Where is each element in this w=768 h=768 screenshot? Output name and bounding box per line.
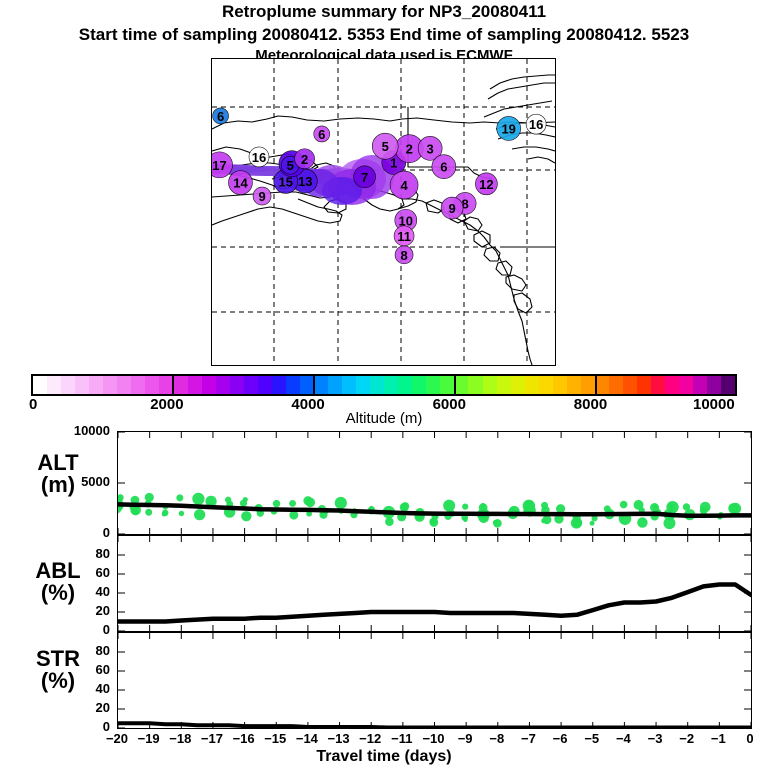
map-marker-8[interactable]: 8 [395,246,413,264]
panel-abl-canvas [118,536,751,631]
colorbar-band-29 [440,376,454,394]
map-marker-7[interactable]: 7 [354,166,376,188]
colorbar-band-46 [679,376,693,394]
colorbar-band-39 [581,376,595,394]
colorbar-band-23 [356,376,370,394]
map-marker-16[interactable]: 16 [526,114,546,134]
colorbar-title: Altitude (m) [0,410,768,427]
svg-text:16: 16 [529,117,543,132]
colorbar-band-3 [75,376,89,394]
colorbar-sep-8000 [595,374,597,396]
map-marker-9[interactable]: 9 [253,187,271,205]
svg-text:6: 6 [217,109,224,124]
retroplume-map[interactable]: 1234567891011121314151617181916669852 [211,58,556,366]
xtick-minus2: −2 [670,731,704,746]
page-title: Retroplume summary for NP3_20080411 [0,2,768,22]
xtick-minus17: −17 [195,731,229,746]
svg-text:13: 13 [298,174,312,189]
ytick-abl-40: 40 [48,584,110,599]
svg-text:9: 9 [258,189,265,204]
map-marker-14[interactable]: 14 [228,171,252,195]
altitude-colorbar [31,374,737,396]
colorbar-band-32 [483,376,497,394]
colorbar-band-33 [497,376,511,394]
xtick-minus7: −7 [511,731,545,746]
panel-str[interactable] [117,632,752,729]
svg-text:4: 4 [400,178,408,193]
svg-text:2: 2 [301,152,308,167]
colorbar-band-44 [651,376,665,394]
map-marker-12[interactable]: 12 [475,173,497,195]
colorbar-sep-6000 [454,374,456,396]
colorbar-band-48 [707,376,721,394]
xtick-minus20: −20 [100,731,134,746]
panel-abl[interactable] [117,535,752,632]
colorbar-band-15 [244,376,258,394]
colorbar-band-26 [398,376,412,394]
colorbar-band-17 [272,376,286,394]
colorbar-band-7 [131,376,145,394]
ytick-abl-60: 60 [48,565,110,580]
colorbar-band-38 [567,376,581,394]
panel-label-alt-line1: ALT [8,452,108,474]
xtick-minus4: −4 [606,731,640,746]
colorbar-band-28 [426,376,440,394]
xtick-0: 0 [733,731,767,746]
ytick-alt-5000: 5000 [48,474,110,489]
ytick-str-20: 20 [48,700,110,715]
panel-str-xticks [118,633,751,728]
colorbar-band-1 [47,376,61,394]
colorbar-band-5 [103,376,117,394]
xtick-minus16: −16 [227,731,261,746]
xtick-minus14: −14 [290,731,324,746]
colorbar-band-16 [258,376,272,394]
colorbar-band-25 [384,376,398,394]
map-marker-19[interactable]: 19 [497,116,521,140]
colorbar-band-21 [328,376,342,394]
colorbar-band-14 [230,376,244,394]
ytick-str-80: 80 [48,643,110,658]
colorbar-band-20 [314,376,328,394]
xtick-minus6: −6 [543,731,577,746]
ytick-abl-80: 80 [48,546,110,561]
colorbar-band-8 [145,376,159,394]
colorbar-sep-2000 [172,374,174,396]
xtick-minus9: −9 [448,731,482,746]
ytick-abl-20: 20 [48,603,110,618]
colorbar-band-12 [202,376,216,394]
xtick-minus1: −1 [701,731,735,746]
xtick-minus3: −3 [638,731,672,746]
svg-text:8: 8 [400,248,407,263]
colorbar-band-45 [665,376,679,394]
ytick-alt-10000: 10000 [48,423,110,438]
panel-abl-line [118,585,751,622]
xtick-minus19: −19 [132,731,166,746]
colorbar-band-36 [539,376,553,394]
alt-scatter [118,493,741,529]
map-marker-11[interactable]: 11 [394,226,414,246]
svg-text:5: 5 [382,139,389,154]
panel-alt[interactable] [117,431,752,535]
colorbar-band-41 [609,376,623,394]
panel-alt-canvas [118,432,751,534]
colorbar-band-18 [286,376,300,394]
colorbar-band-49 [721,376,735,394]
panel-str-yticks [118,652,751,728]
svg-text:3: 3 [427,141,434,156]
ytick-str-60: 60 [48,662,110,677]
svg-text:5: 5 [287,158,294,173]
colorbar-band-0 [33,376,47,394]
svg-text:11: 11 [397,229,411,244]
xtick-minus12: −12 [353,731,387,746]
colorbar-band-4 [89,376,103,394]
x-axis-title: Travel time (days) [0,748,768,766]
colorbar-band-10 [173,376,187,394]
xtick-minus15: −15 [258,731,292,746]
colorbar-band-43 [637,376,651,394]
svg-text:6: 6 [318,127,325,142]
svg-text:17: 17 [212,158,226,173]
svg-text:7: 7 [361,170,368,185]
map-marker-2[interactable]: 2 [295,149,315,169]
ytick-str-40: 40 [48,681,110,696]
colorbar-band-30 [454,376,468,394]
panel-str-canvas [118,633,751,728]
svg-text:14: 14 [233,176,248,191]
colorbar-band-27 [412,376,426,394]
colorbar-band-13 [216,376,230,394]
colorbar-band-31 [468,376,482,394]
svg-text:9: 9 [448,201,455,216]
map-canvas: 1234567891011121314151617181916669852 [212,59,555,365]
map-marker-6[interactable]: 6 [314,126,330,142]
colorbar-band-37 [553,376,567,394]
svg-text:12: 12 [479,177,493,192]
sampling-time-range: Start time of sampling 20080412. 5353 En… [0,25,768,45]
svg-text:6: 6 [440,160,447,175]
colorbar-band-42 [623,376,637,394]
colorbar-band-22 [342,376,356,394]
map-gridlines [212,59,555,365]
map-marker-6[interactable]: 6 [213,108,229,124]
xtick-minus8: −8 [480,731,514,746]
map-marker-6[interactable]: 6 [432,155,456,179]
xtick-minus18: −18 [163,731,197,746]
xtick-minus5: −5 [575,731,609,746]
colorbar-band-2 [61,376,75,394]
xtick-minus13: −13 [322,731,356,746]
svg-text:19: 19 [501,121,515,136]
colorbar-band-47 [693,376,707,394]
map-marker-4[interactable]: 4 [390,171,418,199]
xtick-minus11: −11 [385,731,419,746]
ytick-alt-0: 0 [48,525,110,540]
map-marker-16[interactable]: 16 [249,147,269,167]
map-marker-9[interactable]: 9 [441,197,463,219]
map-marker-5[interactable]: 5 [372,133,398,159]
colorbar-band-19 [300,376,314,394]
colorbar-band-35 [525,376,539,394]
ytick-abl-0: 0 [48,622,110,637]
xtick-minus10: −10 [417,731,451,746]
colorbar-band-34 [511,376,525,394]
colorbar-band-11 [188,376,202,394]
colorbar-band-6 [117,376,131,394]
svg-text:2: 2 [406,142,413,157]
colorbar-band-24 [370,376,384,394]
svg-text:16: 16 [252,150,266,165]
colorbar-sep-4000 [313,374,315,396]
